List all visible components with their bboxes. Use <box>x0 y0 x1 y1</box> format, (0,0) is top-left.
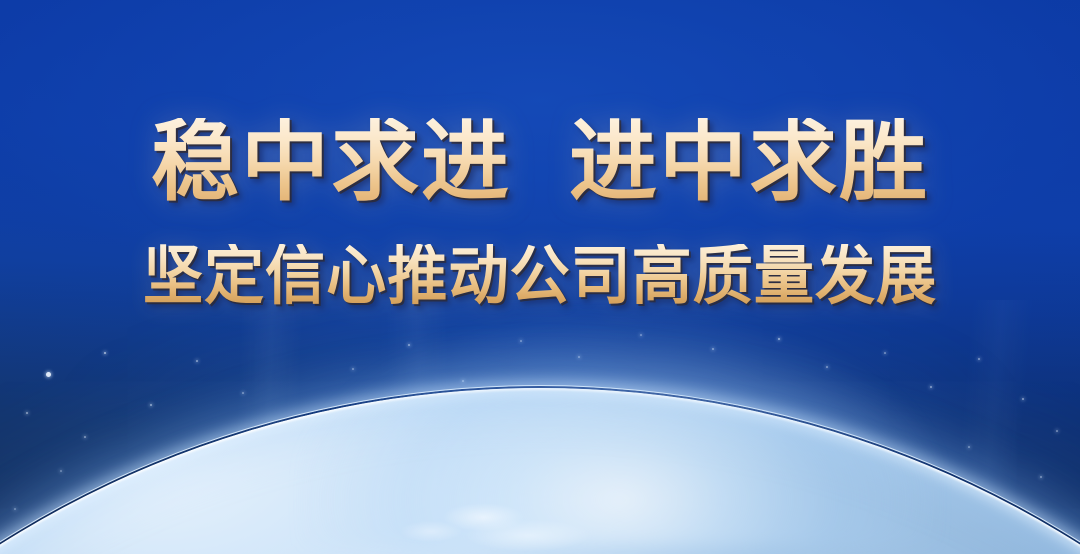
planet-body <box>0 388 1080 554</box>
earth-globe <box>0 300 1080 554</box>
planet-limb-highlight <box>0 388 1080 554</box>
headline: 稳中求进 进中求胜 <box>0 118 1080 206</box>
poster-canvas: 稳中求进 进中求胜 坚定信心推动公司高质量发展 <box>0 0 1080 554</box>
headline-phrase-1: 稳中求进 <box>151 118 511 206</box>
subtitle: 坚定信心推动公司高质量发展 <box>32 244 1047 308</box>
headline-phrase-2: 进中求胜 <box>569 118 929 206</box>
headline-block: 稳中求进 进中求胜 坚定信心推动公司高质量发展 <box>0 118 1080 308</box>
